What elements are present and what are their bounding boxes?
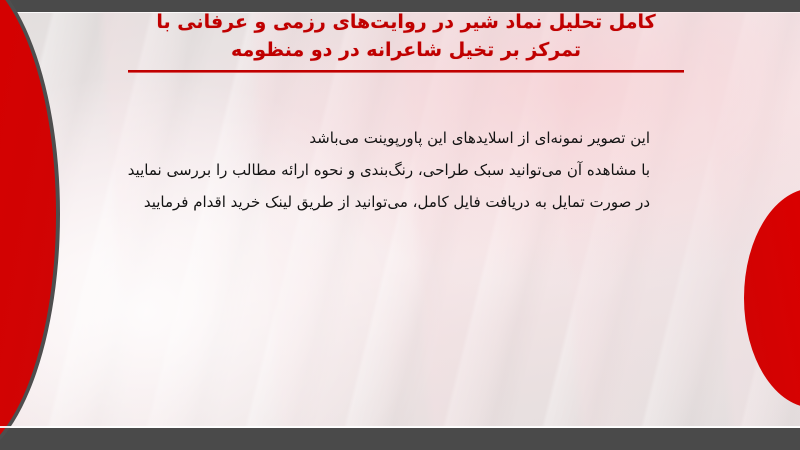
right-red-ellipse-decoration (744, 188, 800, 408)
presentation-slide: کامل تحلیل نماد شیر در روایت‌های رزمی و … (0, 0, 800, 450)
diagonal-streak-pattern-secondary (0, 12, 800, 428)
body-line-2: با مشاهده آن می‌توانید سبک طراحی، رنگ‌بن… (130, 154, 650, 186)
slide-body-text: این تصویر نمونه‌ای از اسلایدهای این پاور… (130, 122, 650, 218)
canvas-bottom-edge (0, 426, 800, 428)
body-line-3: در صورت تمایل به دریافت فایل کامل، می‌تو… (130, 186, 650, 218)
background-color-wash (0, 12, 800, 428)
diagonal-streak-pattern (0, 12, 800, 428)
title-line-2: تمرکز بر تخیل شاعرانه در دو منظومه (96, 36, 716, 64)
slide-canvas (0, 12, 800, 428)
body-line-1: این تصویر نمونه‌ای از اسلایدهای این پاور… (130, 122, 650, 154)
title-underline-rule (128, 70, 684, 73)
slide-title: کامل تحلیل نماد شیر در روایت‌های رزمی و … (96, 8, 716, 73)
title-line-1: کامل تحلیل نماد شیر در روایت‌های رزمی و … (96, 8, 716, 36)
slide-bottom-border (0, 428, 800, 450)
